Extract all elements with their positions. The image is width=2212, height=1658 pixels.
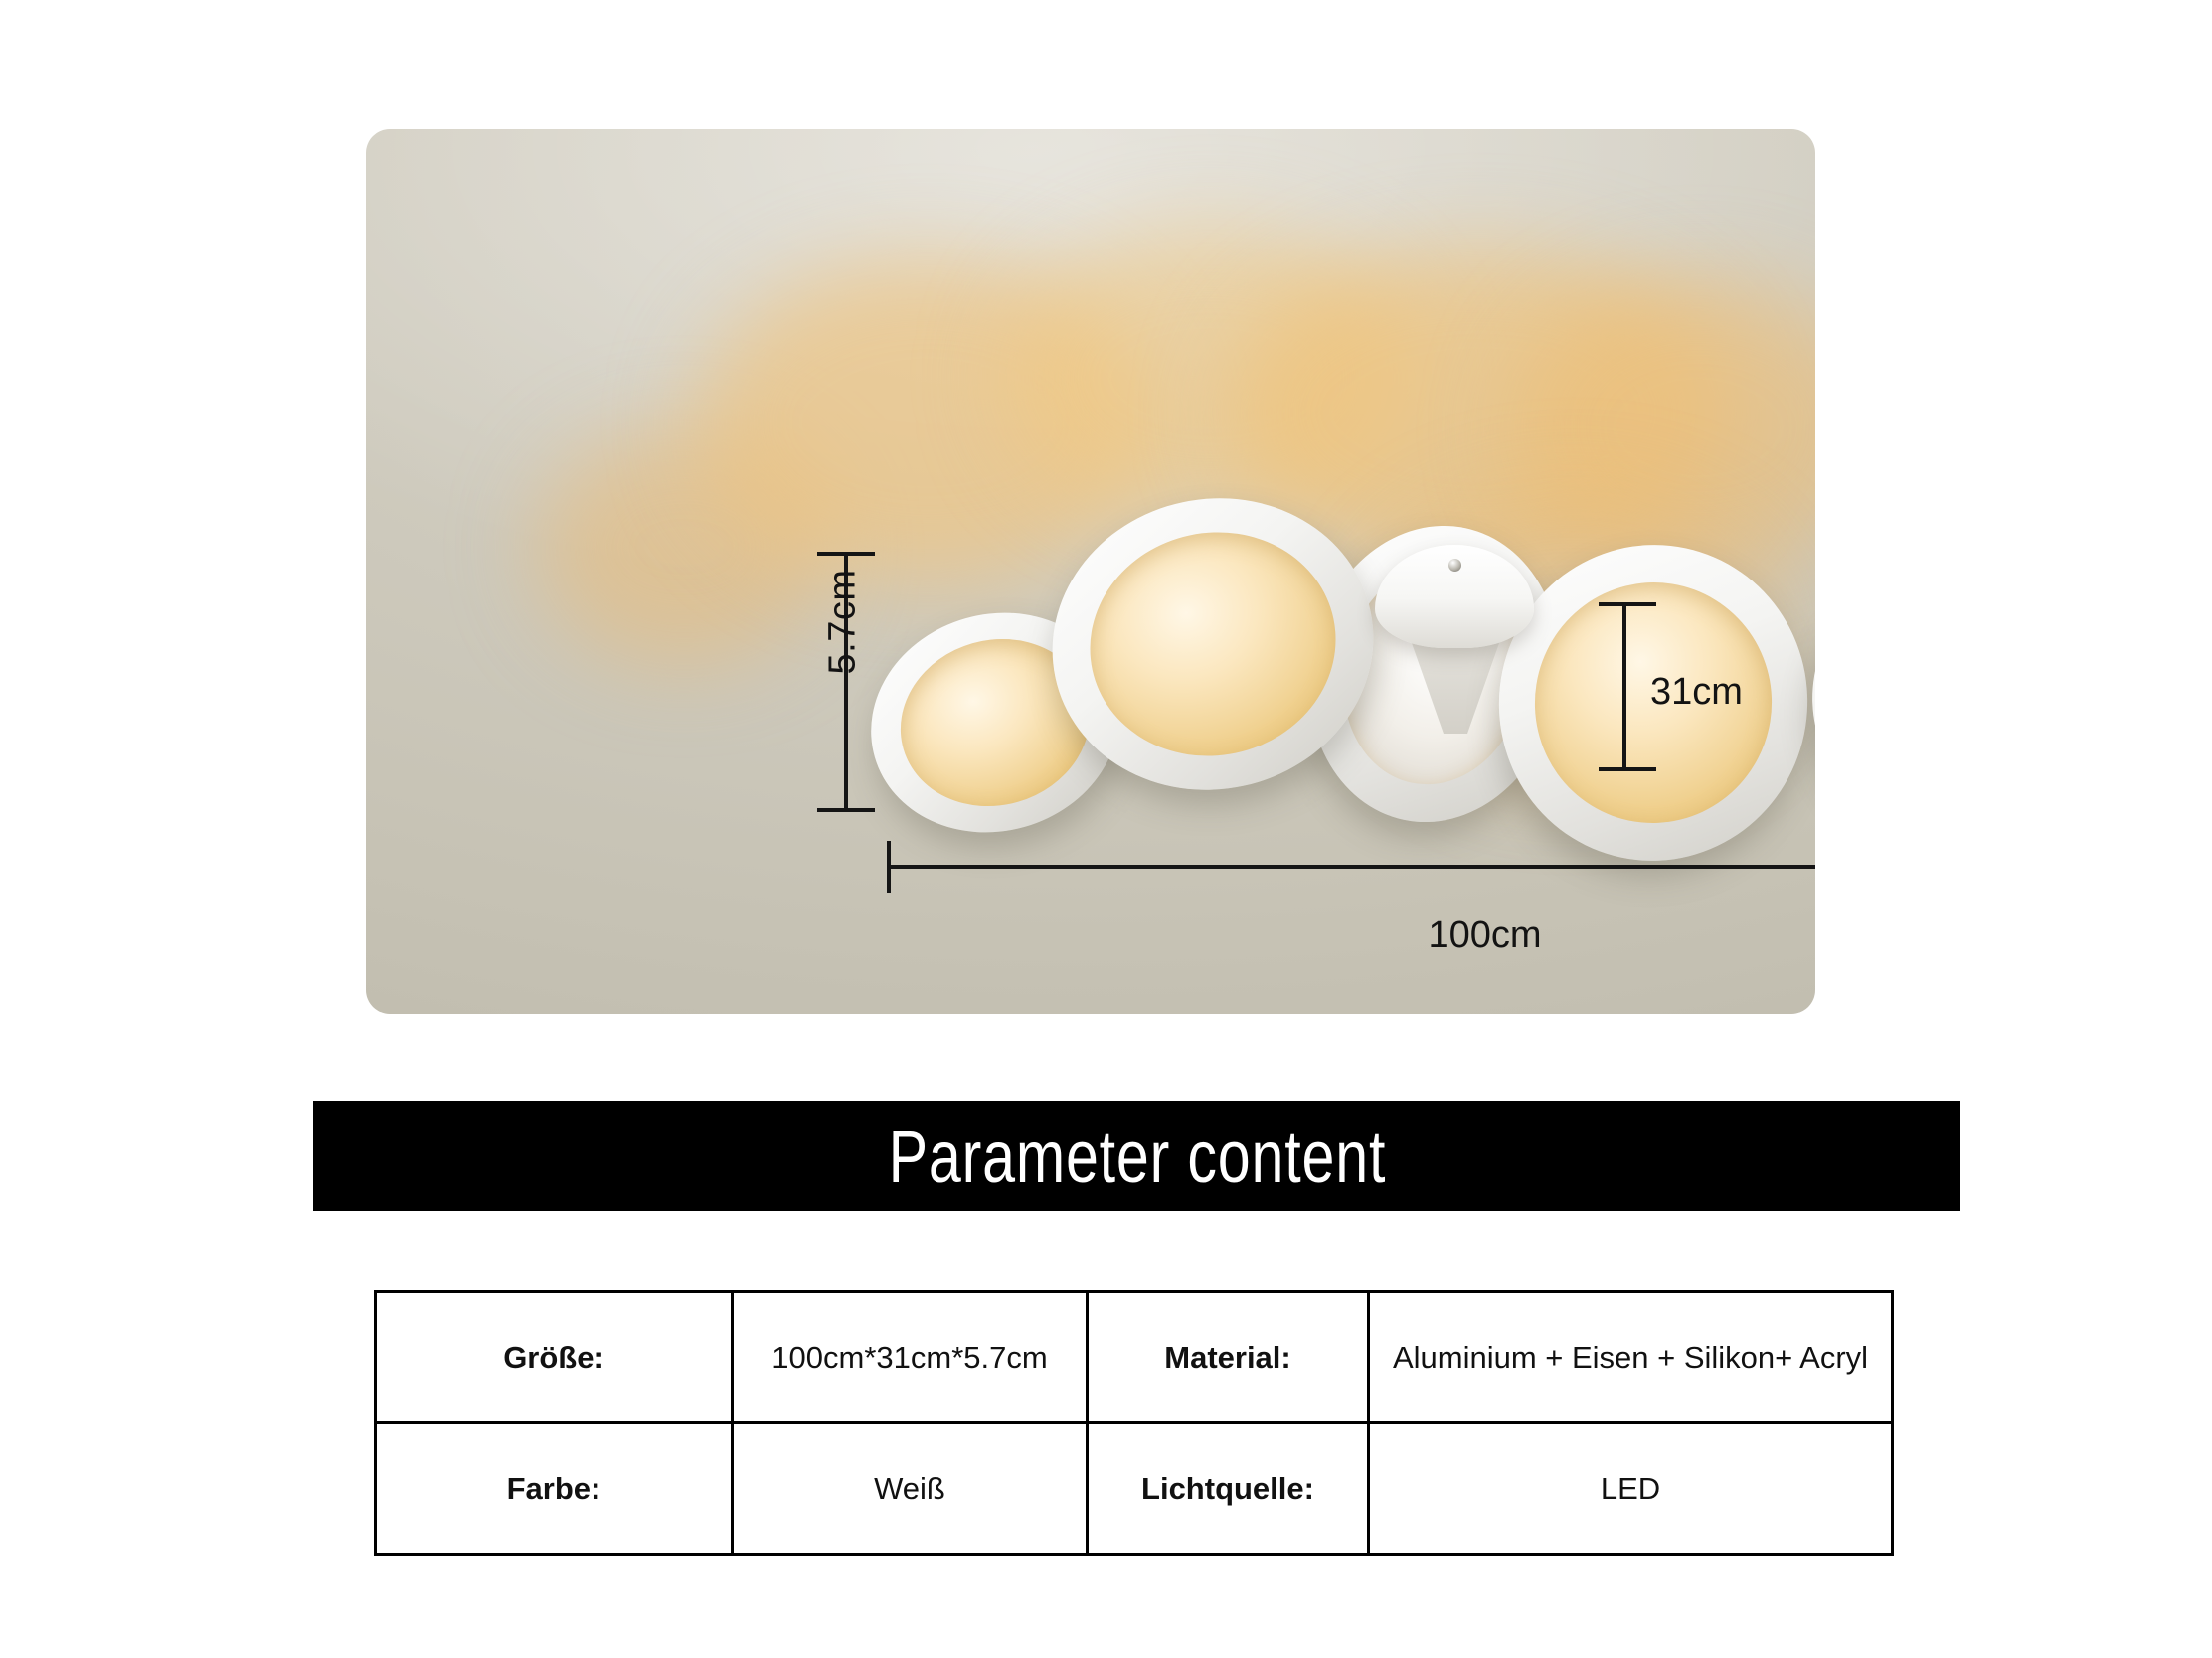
width-dimension-cap-left xyxy=(887,841,891,893)
spec-value-color: Weiß xyxy=(733,1423,1088,1555)
spec-value-material: Aluminium + Eisen + Silikon+ Acryl xyxy=(1369,1292,1893,1423)
product-photo-panel: 5.7cm 31cm 100cm xyxy=(366,129,1815,1014)
spec-label-lightsource: Lichtquelle: xyxy=(1088,1423,1369,1555)
table-row: Größe: 100cm*31cm*5.7cm Material: Alumin… xyxy=(376,1292,1893,1423)
mount-screw-icon xyxy=(1448,559,1461,572)
banner-title: Parameter content xyxy=(888,1114,1386,1199)
width-dimension-line xyxy=(889,865,1815,869)
parameter-content-banner: Parameter content xyxy=(313,1101,1960,1211)
ring-2-inner-glow xyxy=(1069,510,1356,779)
depth-dimension-line xyxy=(1622,602,1626,771)
depth-dimension-cap-bottom xyxy=(1599,767,1656,771)
spec-label-size: Größe: xyxy=(376,1292,733,1423)
spec-value-size: 100cm*31cm*5.7cm xyxy=(733,1292,1088,1423)
height-dimension-cap-bottom xyxy=(817,808,875,812)
spec-label-material: Material: xyxy=(1088,1292,1369,1423)
spec-label-color: Farbe: xyxy=(376,1423,733,1555)
specification-table: Größe: 100cm*31cm*5.7cm Material: Alumin… xyxy=(374,1290,1894,1556)
width-dimension-label: 100cm xyxy=(889,914,1815,957)
ceiling-lamp xyxy=(366,129,1815,1014)
depth-dimension-label: 31cm xyxy=(1650,671,1743,714)
spec-value-lightsource: LED xyxy=(1369,1423,1893,1555)
depth-dimension-cap-top xyxy=(1599,602,1656,606)
table-row: Farbe: Weiß Lichtquelle: LED xyxy=(376,1423,1893,1555)
height-dimension-label: 5.7cm xyxy=(822,543,865,702)
